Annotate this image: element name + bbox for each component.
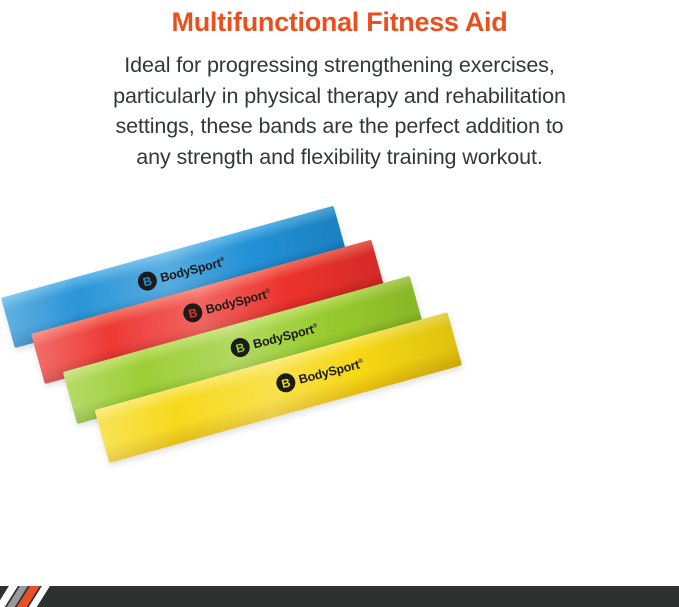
footer-accent-stripes [0, 586, 130, 607]
footer-bar [0, 586, 679, 607]
description-line-1: Ideal for progressing strengthening exer… [0, 50, 679, 81]
description-line-4: any strength and flexibility training wo… [0, 142, 679, 173]
description-line-2: particularly in physical therapy and reh… [0, 81, 679, 112]
promo-description: Ideal for progressing strengthening exer… [0, 38, 679, 172]
resistance-bands-group: B BodySport® B BodySport® B BodySport® B [0, 205, 679, 586]
promo-text-block: Multifunctional Fitness Aid Ideal for pr… [0, 0, 679, 172]
product-photo: B BodySport® B BodySport® B BodySport® B [0, 205, 679, 586]
description-line-3: settings, these bands are the perfect ad… [0, 111, 679, 142]
page-title: Multifunctional Fitness Aid [0, 0, 679, 38]
